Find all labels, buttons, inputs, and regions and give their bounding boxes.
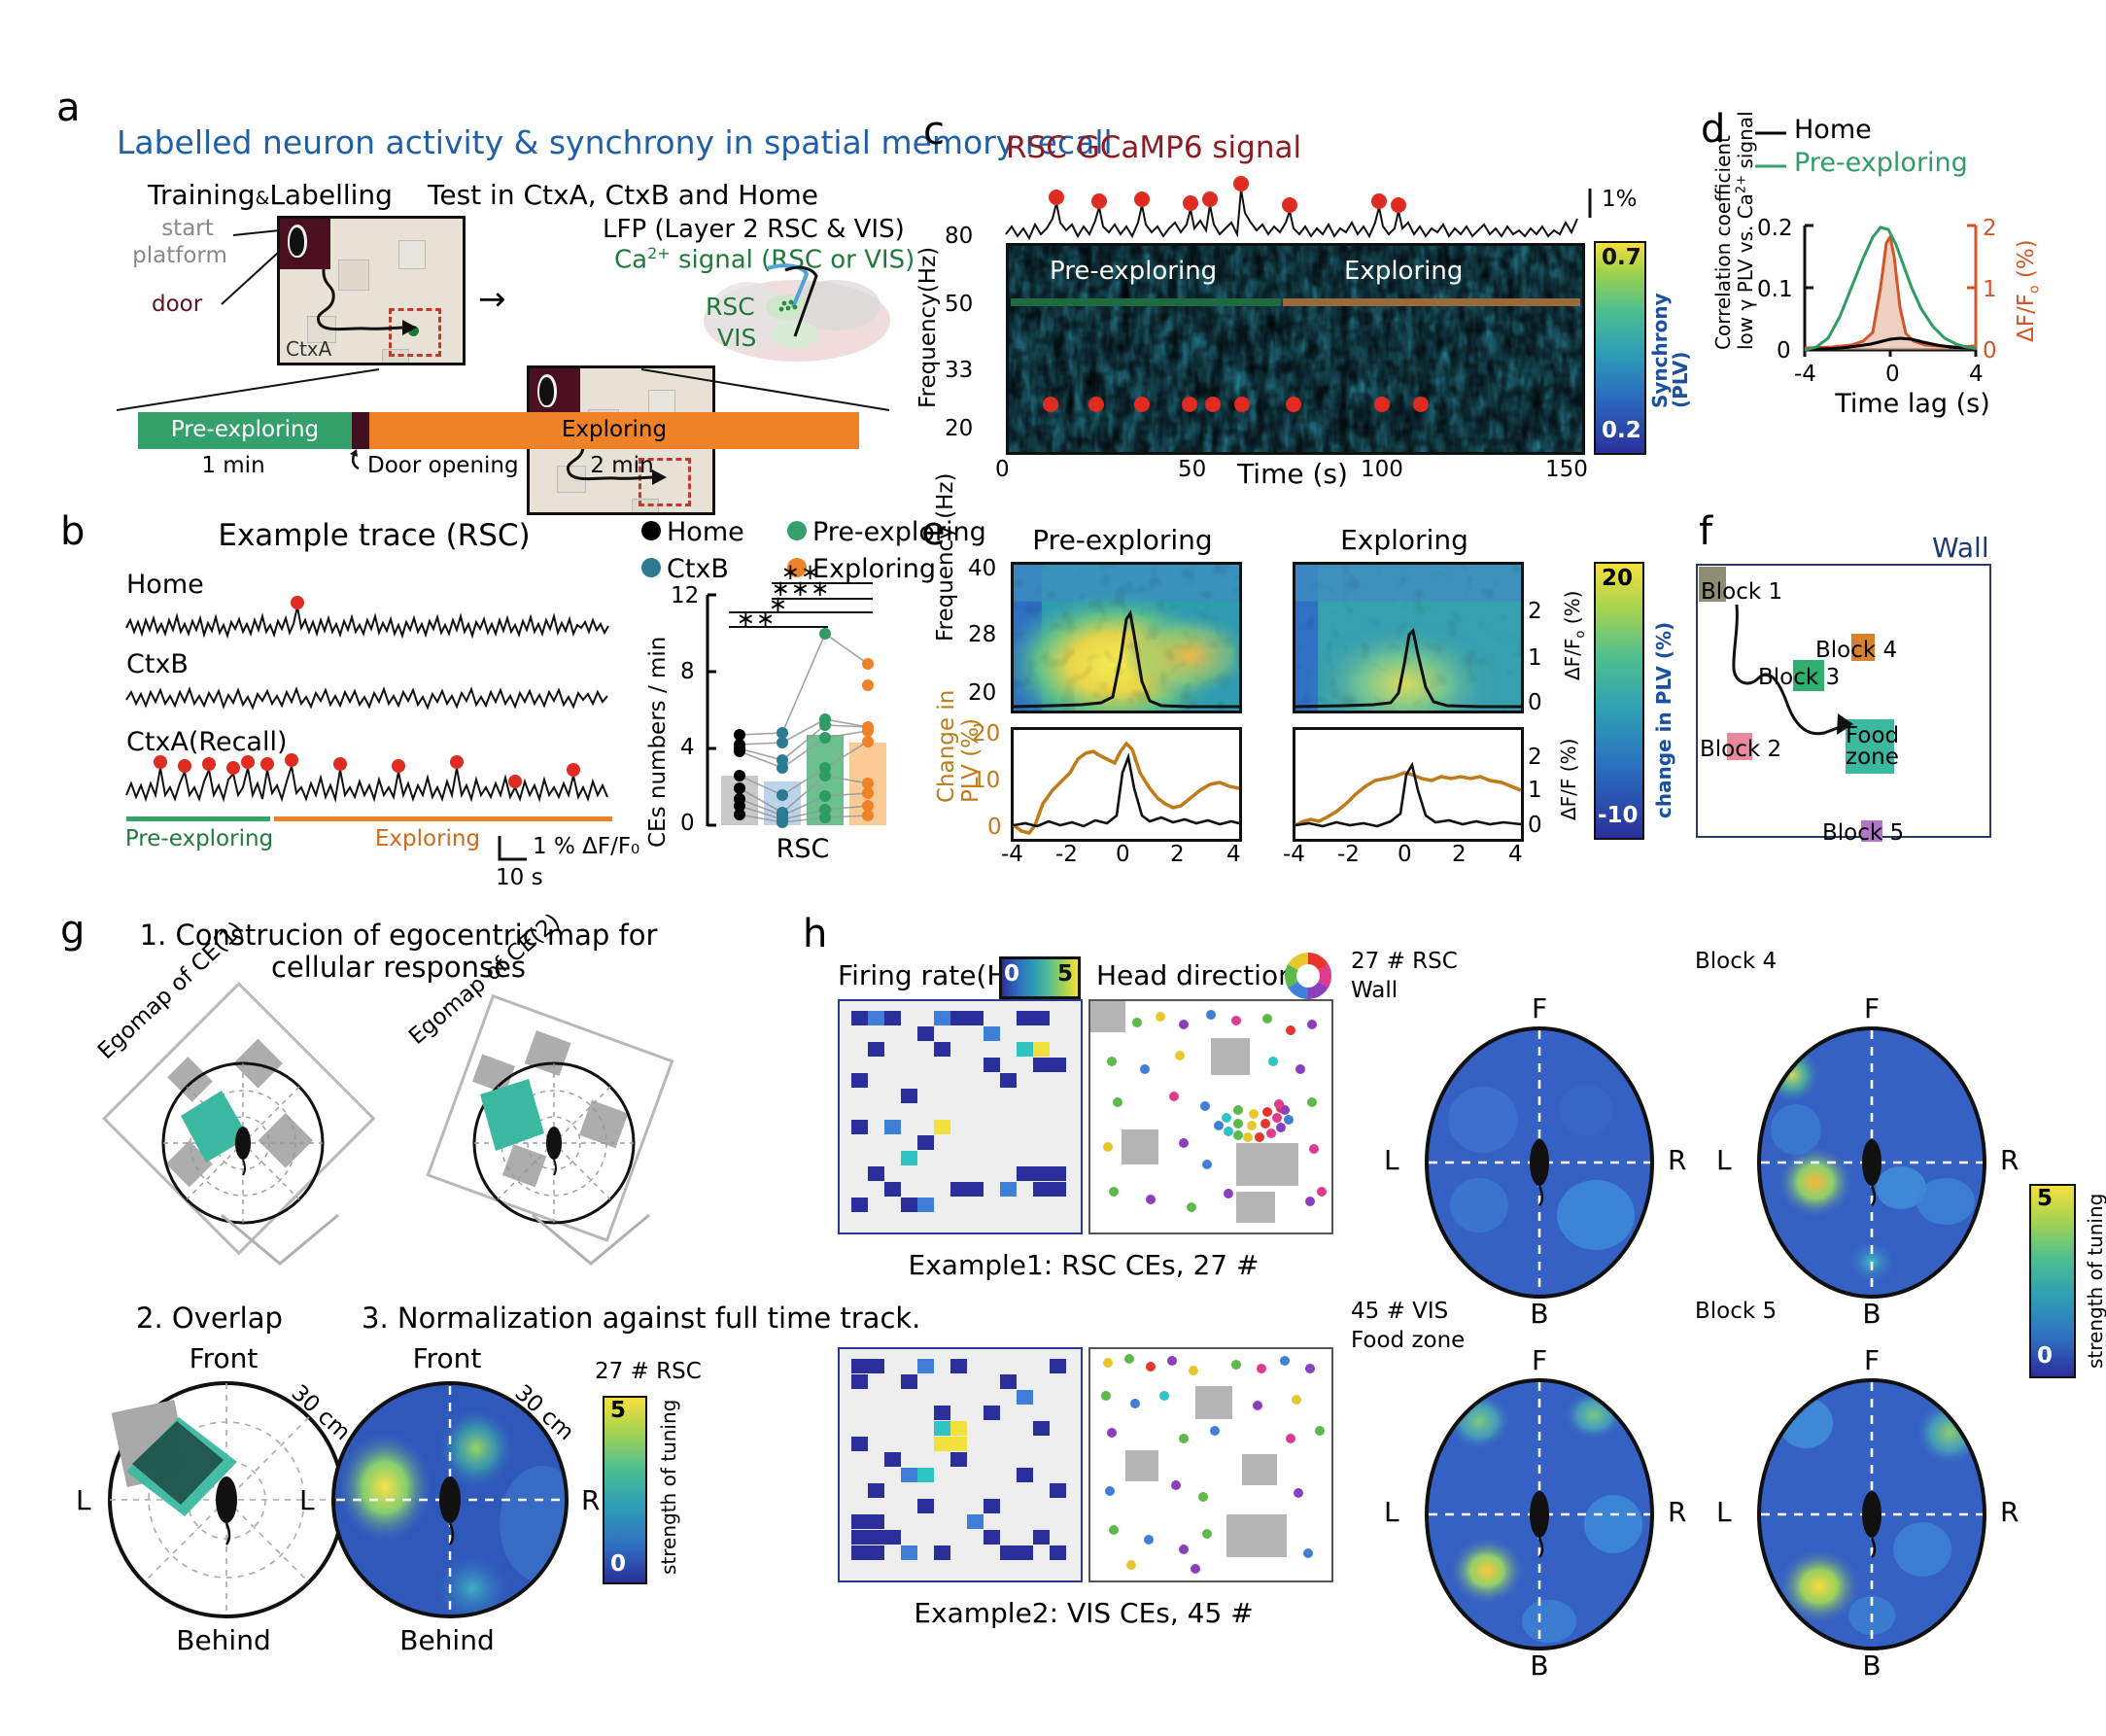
timeline-pre-duration: 1 min — [146, 453, 321, 478]
g-egomap-1: Egomap of CE(1) — [97, 972, 379, 1254]
c-cbar-max: 0.7 — [1602, 245, 1641, 270]
e-cbar-max: 20 — [1602, 566, 1633, 591]
d-legend-line-pre — [1755, 157, 1788, 175]
g-cbar-min: 0 — [610, 1551, 626, 1577]
g-norm-left: L — [299, 1485, 315, 1516]
panel-a-right-header: Test in CtxA, CtxB and Home — [428, 180, 818, 211]
d-ytick-0p2: 0.2 — [1757, 216, 1793, 241]
h-polar4-back: B — [1726, 1650, 2018, 1682]
d-rtick-0: 0 — [1983, 338, 1997, 364]
e-lineplot-exp — [1293, 727, 1524, 842]
timeline-exp-duration: 2 min — [564, 453, 680, 478]
h-polar1-svg — [1423, 1024, 1656, 1301]
maze-label-ctxa: CtxA — [286, 337, 331, 361]
legend-label-home: Home — [667, 517, 744, 547]
panel-label-g: g — [60, 908, 85, 953]
e-subtitle-pre: Pre-exploring — [1011, 525, 1234, 556]
e-pre-ca-trace — [1014, 565, 1239, 711]
d-legend-line-home — [1755, 124, 1788, 142]
panel-label-a: a — [56, 86, 81, 130]
h-polar3-back: B — [1394, 1650, 1685, 1682]
d-rtick-2: 2 — [1983, 216, 1997, 241]
e-brtick-1: 1 — [1528, 778, 1542, 803]
h-fr-min: 0 — [1004, 961, 1019, 987]
ca-superscript: 2+ — [647, 244, 671, 262]
h-head-direction-label: Head direction — [1096, 960, 1295, 991]
h-polar4-right: R — [2000, 1497, 2019, 1528]
c-xtick-150: 150 — [1545, 457, 1588, 482]
e-lineplot-exp-svg — [1295, 730, 1521, 839]
h-polar2-front: F — [1726, 993, 2018, 1024]
ces-xlabel: RSC — [706, 834, 900, 864]
e-subtitle-exp: Exploring — [1293, 525, 1516, 556]
e-lineplot-pre-svg — [1014, 730, 1239, 839]
e-rtick-2: 2 — [1528, 599, 1542, 624]
c-cbar-min: 0.2 — [1602, 418, 1641, 443]
sig-stars-4: ∗∗ — [748, 560, 853, 585]
legend-dot-pre — [787, 521, 807, 540]
timeline-pre-label: Pre-exploring — [138, 417, 352, 442]
calcium-event-dot — [291, 596, 304, 609]
e-xtick-pre-0: 0 — [1116, 842, 1130, 867]
c-ytick-80: 80 — [945, 224, 973, 249]
h-trajectory-map-2 — [1088, 1347, 1333, 1582]
timeline-bar: Pre-exploring Exploring — [138, 412, 859, 449]
trace-ctxb — [126, 675, 612, 721]
h-polar1-back: B — [1394, 1299, 1685, 1330]
e-ytick-28: 28 — [968, 622, 996, 647]
e-brtick-0: 0 — [1528, 813, 1542, 838]
trace-scale-label: 1% — [1602, 187, 1638, 212]
panel-label-b: b — [60, 509, 85, 554]
panel-label-f: f — [1699, 509, 1712, 554]
head-direction-wheel-icon — [1281, 949, 1335, 1003]
timeline-door-label: Door opening — [367, 453, 519, 478]
timeline-exp-label: Exploring — [369, 417, 859, 442]
e-ylabel-top: Frequency (Hz) — [933, 473, 958, 642]
e-xtick-exp-m2: -2 — [1337, 842, 1360, 867]
e-rtick-1: 1 — [1528, 645, 1542, 671]
phase-bar-exp — [274, 816, 612, 821]
arrow-icon: → — [478, 280, 506, 319]
legend-dot-home — [641, 521, 661, 540]
e-colorbar — [1594, 562, 1644, 840]
d-xtick-m4: -4 — [1794, 362, 1816, 387]
h-cell1-id: 27 # RSC — [1351, 949, 1458, 974]
trace-ctxa-recall — [126, 752, 612, 811]
c-ytick-50: 50 — [945, 292, 973, 317]
h-cbar-min: 0 — [2037, 1343, 2053, 1369]
h-polar2-right: R — [2000, 1145, 2019, 1176]
ytick-0: 0 — [680, 811, 695, 836]
c-ytick-20: 20 — [945, 416, 973, 441]
h-polar2-left: L — [1716, 1145, 1732, 1176]
ytick-4: 4 — [680, 735, 695, 760]
h-polar4-front: F — [1726, 1345, 2018, 1376]
d-legend-label-home: Home — [1794, 115, 1872, 145]
panel-c-spectrogram: Pre-exploring Exploring — [1006, 243, 1585, 455]
h-fr-max: 5 — [1057, 961, 1073, 987]
e-rtick-0: 0 — [1528, 690, 1542, 715]
h-polar-map-4 — [1755, 1376, 1988, 1652]
d-ytick-0: 0 — [1777, 338, 1791, 364]
panel-c-title: RSC GCaMP6 signal — [1006, 131, 1301, 166]
e-btick-20: 20 — [972, 721, 1000, 746]
e-heatmap-pre — [1011, 562, 1242, 713]
ampersand: & — [255, 188, 269, 209]
d-xtick-0: 0 — [1885, 362, 1900, 387]
e-btick-10: 10 — [972, 768, 1000, 793]
panel-c-trace — [1006, 180, 1579, 244]
h-polar4-left: L — [1716, 1497, 1732, 1528]
legend-dot-ctxb — [641, 558, 661, 577]
labelling-label: Labelling — [269, 179, 393, 211]
g-cbar-label: strength of tuning — [657, 1400, 680, 1575]
scale-bar-icon — [498, 834, 531, 863]
h-polar1-left: L — [1384, 1145, 1399, 1176]
h-example1-caption: Example1: RSC CEs, 27 # — [838, 1250, 1329, 1281]
g-step2: 2. Overlap — [136, 1302, 283, 1335]
h-ratemap-1 — [838, 999, 1083, 1234]
ytick-8: 8 — [680, 659, 695, 684]
e-brtick-2: 2 — [1528, 745, 1542, 770]
c-ytick-33: 33 — [945, 358, 973, 383]
g-overlap-behind: Behind — [117, 1625, 330, 1656]
ca-text: Ca — [614, 246, 647, 275]
e-xtick-pre-4: 4 — [1226, 842, 1241, 867]
brain-label-vis: VIS — [717, 324, 756, 352]
e-xtick-pre-2: 2 — [1170, 842, 1185, 867]
ces-bar-chart: CEs numbers / min 12 8 4 0 — [641, 593, 904, 865]
trace-home — [126, 595, 612, 645]
phase-label-exp: Exploring — [330, 826, 525, 851]
h-cell2-cond: Block 4 — [1695, 949, 1777, 974]
c-xlabel: Time (s) — [1147, 459, 1438, 490]
e-cbar-label: change in PLV (%) — [1652, 622, 1675, 818]
legend-label-pre: Pre-exploring — [812, 517, 986, 547]
c-event-dots — [1009, 246, 1582, 452]
panel-a-left-header: Training&Labelling — [148, 180, 393, 211]
g-overlap-front: Front — [117, 1343, 330, 1374]
h-polar3-left: L — [1384, 1497, 1399, 1528]
panel-a-title: Labelled neuron activity & synchrony in … — [117, 124, 1113, 161]
h-trajmap1-svg — [1090, 1001, 1331, 1233]
panel-c-ylabel: Frequency(Hz) — [915, 247, 941, 408]
h-example2-caption: Example2: VIS CEs, 45 # — [838, 1598, 1329, 1629]
e-heatmap-exp — [1293, 562, 1524, 713]
d-ylabel-right: ΔF/Fo (%) — [2014, 239, 2043, 342]
e-cbar-min: -10 — [1598, 803, 1639, 828]
trace-scale-tick — [1584, 187, 1600, 220]
h-polar3-svg — [1423, 1376, 1656, 1652]
g-norm-front: Front — [340, 1343, 554, 1374]
f-arena: Block 1 Block 2 Block 3 Block 4 Block 5 … — [1696, 564, 1991, 838]
panel-label-c: c — [923, 109, 945, 154]
h-trajectory-map-1 — [1088, 999, 1333, 1234]
e-ylabel-bottom-right: ΔF/F (%) — [1557, 739, 1580, 820]
e-lineplot-pre — [1011, 727, 1242, 842]
h-polar2-back: B — [1726, 1299, 2018, 1330]
scale-y-label: 1 % ΔF/F₀ — [533, 834, 639, 859]
lfp-label: LFP (Layer 2 RSC & VIS) — [603, 216, 905, 245]
e-xtick-exp-4: 4 — [1508, 842, 1523, 867]
f-wall-label: Wall — [1932, 533, 1989, 564]
brain-schematic: RSC VIS — [671, 260, 894, 367]
e-xtick-pre-m2: -2 — [1055, 842, 1078, 867]
h-cell1-cond: Wall — [1351, 978, 1398, 1003]
f-trajectory — [1698, 566, 1989, 836]
g-norm-behind: Behind — [340, 1625, 554, 1656]
ces-ylabel: CEs numbers / min — [645, 637, 671, 848]
d-ytick-0p1: 0.1 — [1757, 277, 1793, 302]
panel-b-title: Example trace (RSC) — [175, 519, 573, 554]
timeline-connector — [117, 367, 894, 412]
e-xtick-exp-0: 0 — [1398, 842, 1412, 867]
e-xtick-exp-2: 2 — [1452, 842, 1467, 867]
phase-label-pre: Pre-exploring — [117, 826, 282, 851]
phase-bar-pre — [126, 816, 270, 821]
h-polar1-right: R — [1668, 1145, 1686, 1176]
maze-image-ctxa: CtxA — [277, 216, 466, 365]
e-exp-ca-trace — [1295, 565, 1521, 711]
g-cell-id: 27 # RSC — [595, 1359, 702, 1384]
training-label: Training — [148, 179, 255, 211]
h-polar3-front: F — [1394, 1345, 1685, 1376]
e-btick-0: 0 — [987, 815, 1002, 840]
h-cbar-label: strength of tuning — [2084, 1194, 2106, 1369]
d-xlabel: Time lag (s) — [1806, 389, 2020, 419]
h-polar2-svg — [1755, 1024, 1988, 1301]
h-ratemap2-svg — [840, 1349, 1081, 1580]
d-legend-label-pre: Pre-exploring — [1794, 148, 1968, 178]
h-polar3-right: R — [1668, 1497, 1686, 1528]
g-step3: 3. Normalization against full time track… — [362, 1302, 920, 1335]
panel-label-h: h — [803, 912, 827, 956]
c-cbar-label: Synchrony(PLV) — [1650, 293, 1691, 408]
h-cbar-max: 5 — [2037, 1186, 2053, 1211]
d-rtick-1: 1 — [1983, 277, 1997, 302]
d-ylabel-left: Correlation coefficientlow γ PLV vs. Ca2… — [1712, 111, 1757, 350]
e-ylabel-top-right: ΔF/Fo (%) — [1561, 591, 1588, 680]
annot-leader-lines — [175, 219, 292, 326]
e-xtick-pre-m4: -4 — [1001, 842, 1023, 867]
e-ytick-40: 40 — [968, 556, 996, 581]
e-xtick-exp-m4: -4 — [1283, 842, 1305, 867]
c-xtick-0: 0 — [995, 457, 1010, 482]
d-xtick-4: 4 — [1969, 362, 1984, 387]
g-cbar-max: 5 — [610, 1398, 626, 1423]
scale-x-label: 10 s — [496, 865, 543, 890]
g-norm-right: R — [581, 1485, 600, 1516]
h-polar1-front: F — [1394, 993, 1685, 1024]
timeline-segment-door — [352, 412, 369, 449]
h-ratemap1-svg — [840, 1001, 1081, 1233]
g-overlap-left: L — [76, 1485, 91, 1516]
h-ratemap-2 — [838, 1347, 1083, 1582]
brain-label-rsc: RSC — [706, 293, 755, 321]
h-polar-map-2 — [1755, 1024, 1988, 1301]
legend-label-ctxb: CtxB — [667, 554, 729, 584]
h-polar-map-3 — [1423, 1376, 1656, 1652]
g-step-connectors — [117, 1215, 700, 1283]
h-polar-map-1 — [1423, 1024, 1656, 1301]
h-trajmap2-svg — [1090, 1349, 1331, 1580]
h-polar4-svg — [1755, 1376, 1988, 1652]
g-egomap-2: Egomap of CE(2) — [408, 972, 690, 1254]
ytick-12: 12 — [671, 583, 699, 608]
